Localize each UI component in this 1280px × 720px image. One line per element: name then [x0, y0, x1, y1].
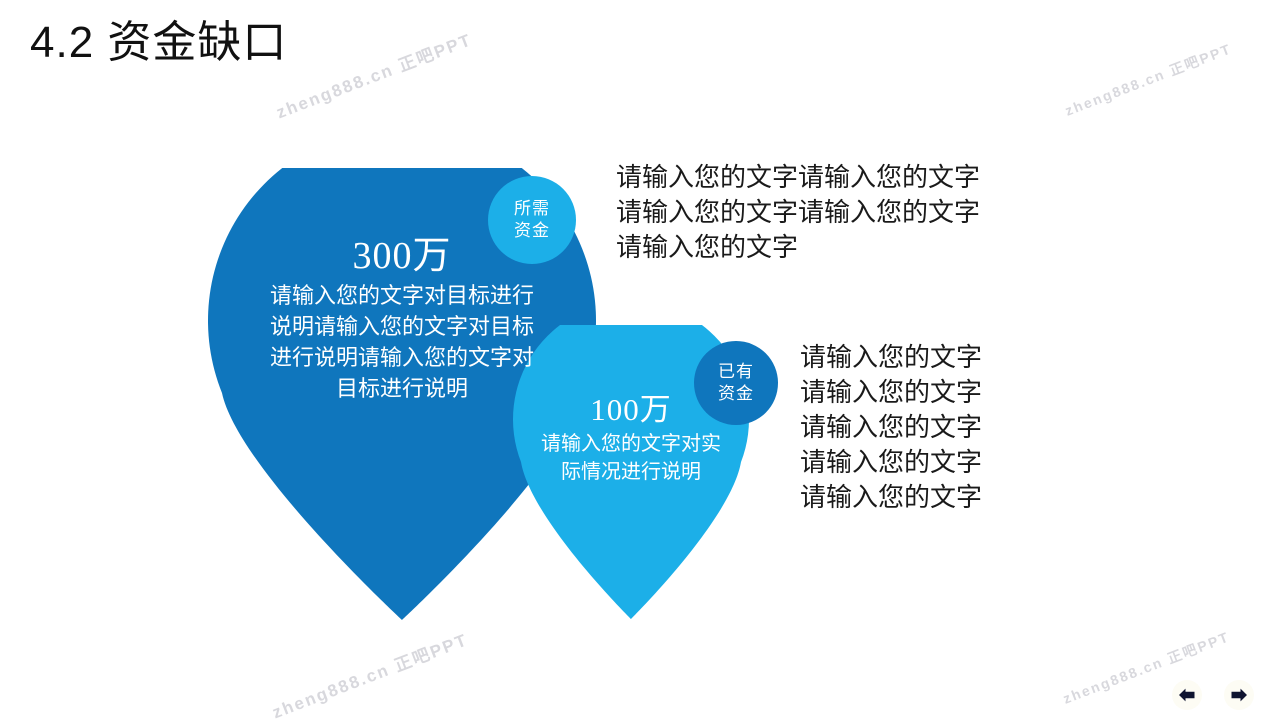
required-funds-side-text: 请输入您的文字请输入您的文字 请输入您的文字请输入您的文字 请输入您的文字: [616, 160, 1036, 265]
available-funds-side-text: 请输入您的文字 请输入您的文字 请输入您的文字 请输入您的文字 请输入您的文字: [800, 340, 1040, 515]
available-funds-badge-line1: 已有: [718, 361, 754, 383]
next-slide-button[interactable]: [1224, 680, 1254, 710]
required-funds-description: 请输入您的文字对目标进行说明请输入您的文字对目标进行说明请输入您的文字对目标进行…: [266, 280, 538, 404]
available-funds-badge[interactable]: 已有 资金: [694, 341, 778, 425]
slide-canvas: 4.2 资金缺口 zheng888.cn 正吧PPT zheng888.cn 正…: [0, 0, 1280, 720]
required-funds-badge-text: 所需 资金: [514, 198, 550, 242]
watermark-bottom-left: zheng888.cn 正吧PPT: [268, 626, 471, 720]
available-funds-badge-line2: 资金: [718, 383, 754, 405]
available-funds-badge-text: 已有 资金: [718, 361, 754, 405]
arrow-left-icon: [1178, 686, 1196, 704]
required-funds-badge-line1: 所需: [514, 198, 550, 220]
required-funds-badge-line2: 资金: [514, 220, 550, 242]
watermark-top-right: zheng888.cn 正吧PPT: [1062, 39, 1235, 121]
slide-navigation: [1172, 680, 1254, 710]
previous-slide-button[interactable]: [1172, 680, 1202, 710]
required-funds-badge[interactable]: 所需 资金: [488, 176, 576, 264]
arrow-right-icon: [1230, 686, 1248, 704]
available-funds-description: 请输入您的文字对实际情况进行说明: [537, 430, 725, 486]
page-title: 4.2 资金缺口: [30, 14, 287, 72]
watermark-top-left: zheng888.cn 正吧PPT: [272, 26, 475, 124]
